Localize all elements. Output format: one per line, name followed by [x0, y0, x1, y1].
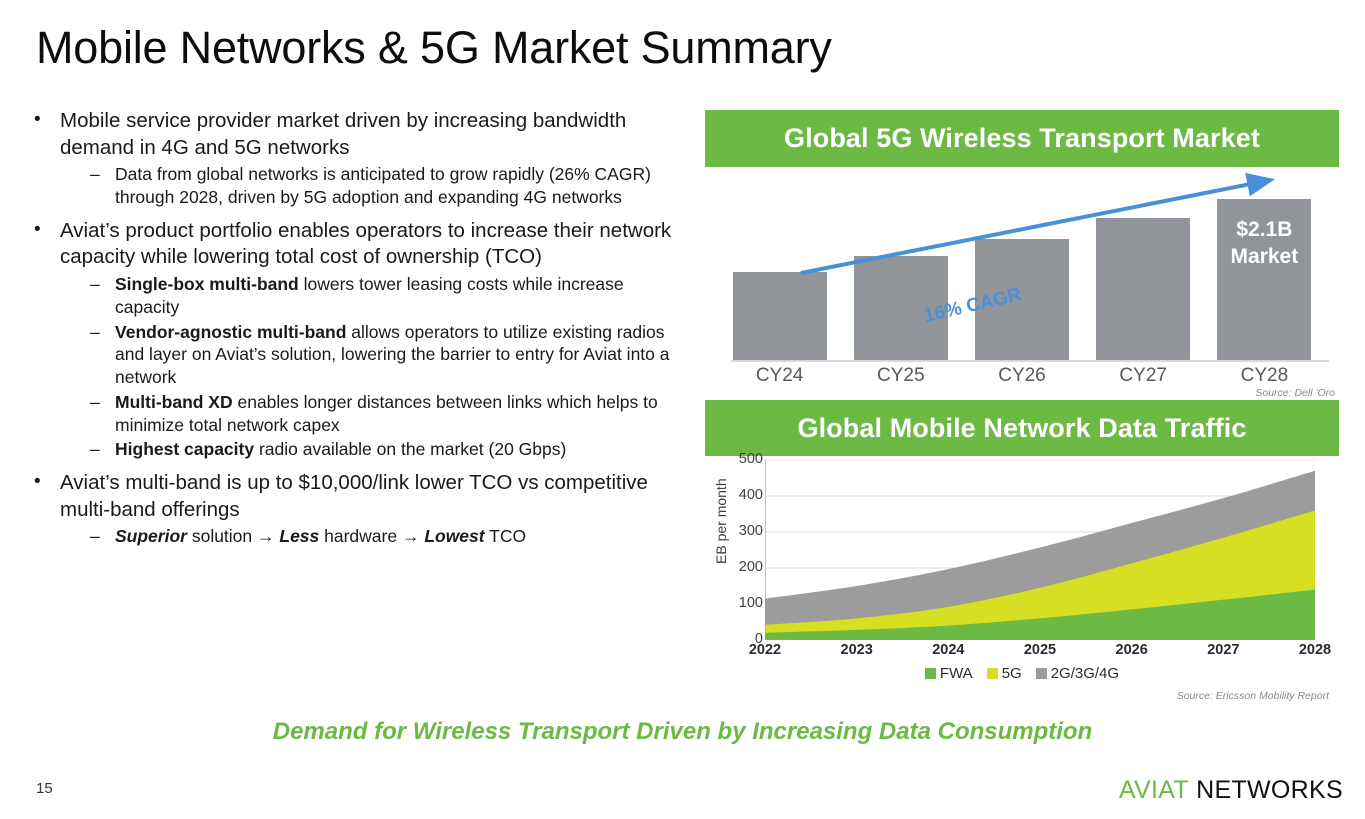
sub-bullet-text: Highest capacity radio available on the … — [115, 438, 684, 461]
sub-bullet-item: – Multi-band XD enables longer distances… — [90, 391, 684, 437]
bullet-text: Mobile service provider market driven by… — [60, 108, 684, 161]
sub-bullet-text: Single-box multi-band lowers tower leasi… — [115, 273, 684, 319]
sub-bullet-item: – Data from global networks is anticipat… — [90, 163, 684, 209]
area-chart-svg — [765, 460, 1315, 640]
bullet-item: • Aviat’s product portfolio enables oper… — [34, 218, 684, 271]
bullet-text: Aviat’s multi-band is up to $10,000/link… — [60, 470, 684, 523]
spacer — [34, 463, 684, 470]
sub-bullet-marker: – — [90, 321, 115, 344]
chart-title-data-traffic: Global Mobile Network Data Traffic — [705, 400, 1339, 456]
y-axis-ticks: 0100200300400500 — [723, 460, 763, 640]
bullet-marker: • — [34, 218, 60, 243]
x-tick-cy24: CY24 — [719, 365, 840, 387]
logo-networks: NETWORKS — [1196, 776, 1343, 804]
logo-aviat: AVIAT — [1119, 776, 1189, 804]
x-tick-cy27: CY27 — [1083, 365, 1204, 387]
sub-bullet-emphasis: Lowest — [424, 526, 484, 546]
x-tick-2026: 2026 — [1102, 642, 1162, 658]
y-tick-100: 100 — [725, 596, 763, 611]
chart-panel-5g-market: Global 5G Wireless Transport Market $2.1… — [705, 110, 1339, 390]
sub-bullet-rest: radio available on the market (20 Gbps) — [254, 439, 566, 459]
slide-tagline: Demand for Wireless Transport Driven by … — [0, 718, 1365, 746]
legend-swatch-icon — [1036, 668, 1047, 679]
legend-label: 2G/3G/4G — [1051, 665, 1119, 682]
sub-bullet-emphasis: Highest capacity — [115, 439, 254, 459]
sub-bullet-emphasis: Multi-band XD — [115, 392, 233, 412]
y-tick-400: 400 — [725, 488, 763, 503]
bullet-text: Aviat’s product portfolio enables operat… — [60, 218, 684, 271]
page-number: 15 — [36, 780, 53, 797]
x-axis-ticks: 2022202320242025202620272028 — [765, 642, 1315, 664]
chart-source-5g-market: Source: Dell 'Oro — [1255, 387, 1335, 399]
sub-bullet-item: – Highest capacity radio available on th… — [90, 438, 684, 461]
slide-root: Mobile Networks & 5G Market Summary • Mo… — [0, 0, 1365, 819]
x-tick-2023: 2023 — [827, 642, 887, 658]
sub-bullet-text: Data from global networks is anticipated… — [115, 163, 684, 209]
brand-logo: AVIAT NETWORKS — [1119, 776, 1343, 805]
chart-title-5g-market: Global 5G Wireless Transport Market — [705, 110, 1339, 167]
cagr-arrow-icon — [719, 168, 1325, 288]
bullet-item: • Aviat’s multi-band is up to $10,000/li… — [34, 470, 684, 523]
y-tick-500: 500 — [725, 452, 763, 467]
sub-bullet-text: Vendor-agnostic multi-band allows operat… — [115, 321, 684, 389]
legend-item-2g-3g-4g: 2G/3G/4G — [1036, 665, 1119, 682]
sub-bullet-marker: – — [90, 273, 115, 296]
y-tick-200: 200 — [725, 560, 763, 575]
legend-item-fwa: FWA — [925, 665, 973, 682]
area-chart-plot: EB per month 0100200300400500 2022202320… — [705, 460, 1339, 700]
sub-bullet-emphasis: Superior — [115, 526, 187, 546]
chart-baseline — [731, 360, 1329, 362]
sub-bullet-item: – Superior solution → Less hardware → Lo… — [90, 525, 684, 548]
legend-item-5g: 5G — [987, 665, 1022, 682]
sub-bullet-marker: – — [90, 525, 115, 548]
sub-bullet-marker: – — [90, 163, 115, 186]
sub-bullet-item: – Single-box multi-band lowers tower lea… — [90, 273, 684, 319]
x-tick-2028: 2028 — [1285, 642, 1345, 658]
sub-bullet-emphasis: Vendor-agnostic multi-band — [115, 322, 346, 342]
legend-label: FWA — [940, 665, 973, 682]
sub-bullet-marker: – — [90, 438, 115, 461]
sub-bullet-marker: – — [90, 391, 115, 414]
spacer — [34, 211, 684, 218]
bullet-marker: • — [34, 108, 60, 133]
x-tick-cy28: CY28 — [1204, 365, 1325, 387]
sub-bullet-text: Multi-band XD enables longer distances b… — [115, 391, 684, 437]
x-tick-cy25: CY25 — [840, 365, 961, 387]
chart-legend: FWA5G2G/3G/4G — [705, 665, 1339, 682]
x-tick-2027: 2027 — [1193, 642, 1253, 658]
chart-source-data-traffic: Source: Ericsson Mobility Report — [1177, 690, 1329, 702]
x-tick-cy26: CY26 — [961, 365, 1082, 387]
chart-panel-data-traffic: Global Mobile Network Data Traffic EB pe… — [705, 400, 1339, 700]
bar-chart-category-labels: CY24CY25CY26CY27CY28 — [719, 365, 1325, 391]
bullet-item: • Mobile service provider market driven … — [34, 108, 684, 161]
legend-swatch-icon — [925, 668, 936, 679]
y-tick-300: 300 — [725, 524, 763, 539]
bullet-list: • Mobile service provider market driven … — [34, 108, 684, 550]
page-title: Mobile Networks & 5G Market Summary — [36, 22, 832, 74]
sub-bullet-emphasis: Single-box multi-band — [115, 274, 299, 294]
legend-swatch-icon — [987, 668, 998, 679]
bullet-marker: • — [34, 470, 60, 495]
x-tick-2025: 2025 — [1010, 642, 1070, 658]
sub-bullet-text-superior: Superior solution → Less hardware → Lowe… — [115, 525, 684, 548]
sub-bullet-emphasis: Less — [279, 526, 319, 546]
x-tick-2022: 2022 — [735, 642, 795, 658]
x-tick-2024: 2024 — [918, 642, 978, 658]
legend-label: 5G — [1002, 665, 1022, 682]
sub-bullet-item: – Vendor-agnostic multi-band allows oper… — [90, 321, 684, 389]
